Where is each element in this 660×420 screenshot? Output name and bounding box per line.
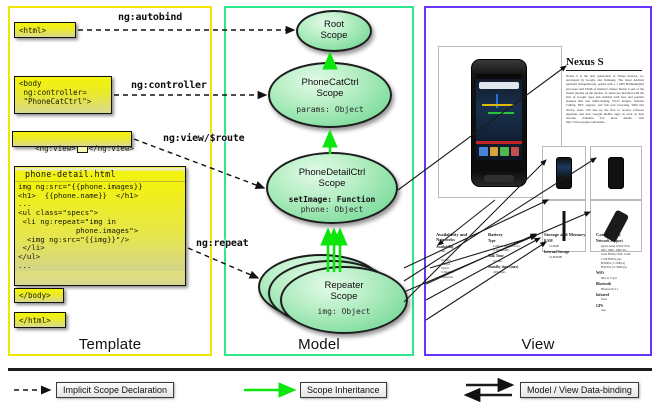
thumbnail-1[interactable] — [542, 146, 586, 200]
spec-value: 6 hours — [488, 259, 540, 263]
phone-device-icon — [471, 59, 527, 187]
spec-value: 512MB — [544, 244, 594, 248]
note-phone-detail-html: phone-detail.html img ng:src="{{phone.im… — [14, 166, 186, 286]
label-ng-view-route: ng:view/$route — [163, 133, 245, 144]
code-box-ngview: <ng:view></ng:view> — [12, 131, 132, 147]
legend-item-databinding: Model / View Data-binding — [520, 382, 639, 398]
label-ng-autobind: ng:autobind — [118, 12, 182, 23]
spec-value: true — [596, 308, 644, 312]
code-box-html-close: </html> — [14, 312, 66, 328]
spec-heading: Battery — [488, 232, 540, 237]
code-box-body-close: </body> — [14, 288, 64, 303]
thumbnail-2[interactable] — [590, 146, 642, 200]
scope-phonecatctrl-title: PhoneCatCtrl Scope — [301, 77, 358, 99]
ngview-open-tag: <ng:view> — [35, 144, 76, 153]
phone-statusbar — [476, 74, 522, 79]
label-ng-repeat: ng:repeat — [196, 238, 248, 249]
panel-label-template: Template — [8, 336, 212, 353]
spec-value: Lithium Ion (Li-Ion) (1500 mAH) — [488, 244, 540, 252]
scope-phonecatctrl-prop-params: params: Object — [296, 105, 363, 115]
scope-phonedetailctrl-prop-phone: phone: Object — [301, 205, 364, 215]
phone-dock-bar — [476, 141, 522, 144]
ngview-placeholder-icon — [77, 146, 88, 153]
legend-item-implicit: Implicit Scope Declaration — [56, 382, 174, 398]
scope-repeater: Repeater Scope img: Object — [280, 266, 408, 334]
spec-heading: Availability and Networks — [436, 232, 484, 243]
spec-heading: Connectivity — [596, 232, 644, 237]
spec-value: false — [596, 297, 644, 301]
scope-root: Root Scope — [296, 10, 372, 52]
spec-value: 16384MB — [544, 255, 594, 259]
scope-phonedetailctrl: PhoneDetailCtrl Scope setImage: Function… — [266, 152, 398, 224]
spec-column-availability: Availability and Networks Availability M… — [436, 232, 484, 279]
spec-value: 802.11 b/g/n — [596, 276, 644, 280]
panel-label-view: View — [424, 336, 652, 353]
phone-search-widget — [479, 82, 519, 89]
spec-value: M1, Orange, Singtel, Sprint, T-Mobile, V… — [436, 249, 484, 278]
scope-phonedetailctrl-title: PhoneDetailCtrl Scope — [299, 167, 366, 189]
product-title-rule — [566, 70, 642, 71]
spec-column-storage: Storage and Memory RAM 512MB Internal St… — [544, 232, 594, 259]
product-description: Nexus S is the next generation of Nexus … — [566, 74, 644, 134]
product-title: Nexus S — [566, 56, 604, 68]
code-box-html-open: <html> — [14, 22, 76, 38]
spec-value: Quad-band GSM: 850, 900, 1800, 1900 Tri-… — [596, 244, 644, 269]
scope-repeater-title: Repeater Scope — [324, 280, 363, 302]
spec-column-battery: Battery Type Lithium Ion (Li-Ion) (1500 … — [488, 232, 540, 274]
note-code: img ng:src="{{phone.images}} <h1> {{phon… — [15, 181, 185, 271]
note-title: phone-detail.html — [15, 167, 185, 181]
phone-app-icons — [479, 147, 519, 156]
diagram-canvas: <html> <body ng:controller= "PhoneCatCtr… — [0, 0, 660, 420]
spec-value: Bluetooth 2.1 — [596, 287, 644, 291]
legend-divider — [8, 368, 652, 371]
spec-table: Availability and Networks Availability M… — [436, 232, 640, 324]
phone-accent-yellow — [482, 104, 514, 106]
panel-label-model: Model — [224, 336, 414, 353]
spec-value: 428 hours — [488, 270, 540, 274]
phone-home-key — [484, 175, 514, 182]
ngview-close-tag: </ng:view> — [89, 144, 134, 153]
scope-repeater-stack: Repeater Scope img: Object — [258, 244, 410, 336]
code-box-body-open: <body ng:controller= "PhoneCatCtrl"> — [14, 76, 112, 114]
phone-accent-green — [488, 112, 514, 114]
scope-repeater-prop-img: img: Object — [318, 307, 371, 317]
legend-item-inheritance: Scope Inheritance — [300, 382, 387, 398]
phone-screen — [476, 74, 522, 160]
scope-phonedetailctrl-prop-setimage: setImage: Function — [289, 195, 376, 205]
spec-heading: Storage and Memory — [544, 232, 594, 237]
scope-root-title: Root Scope — [321, 19, 348, 41]
label-ng-controller: ng:controller — [131, 80, 207, 91]
scope-phonecatctrl: PhoneCatCtrl Scope params: Object — [268, 62, 392, 128]
spec-column-connectivity: Connectivity Network Support Quad-band G… — [596, 232, 644, 312]
